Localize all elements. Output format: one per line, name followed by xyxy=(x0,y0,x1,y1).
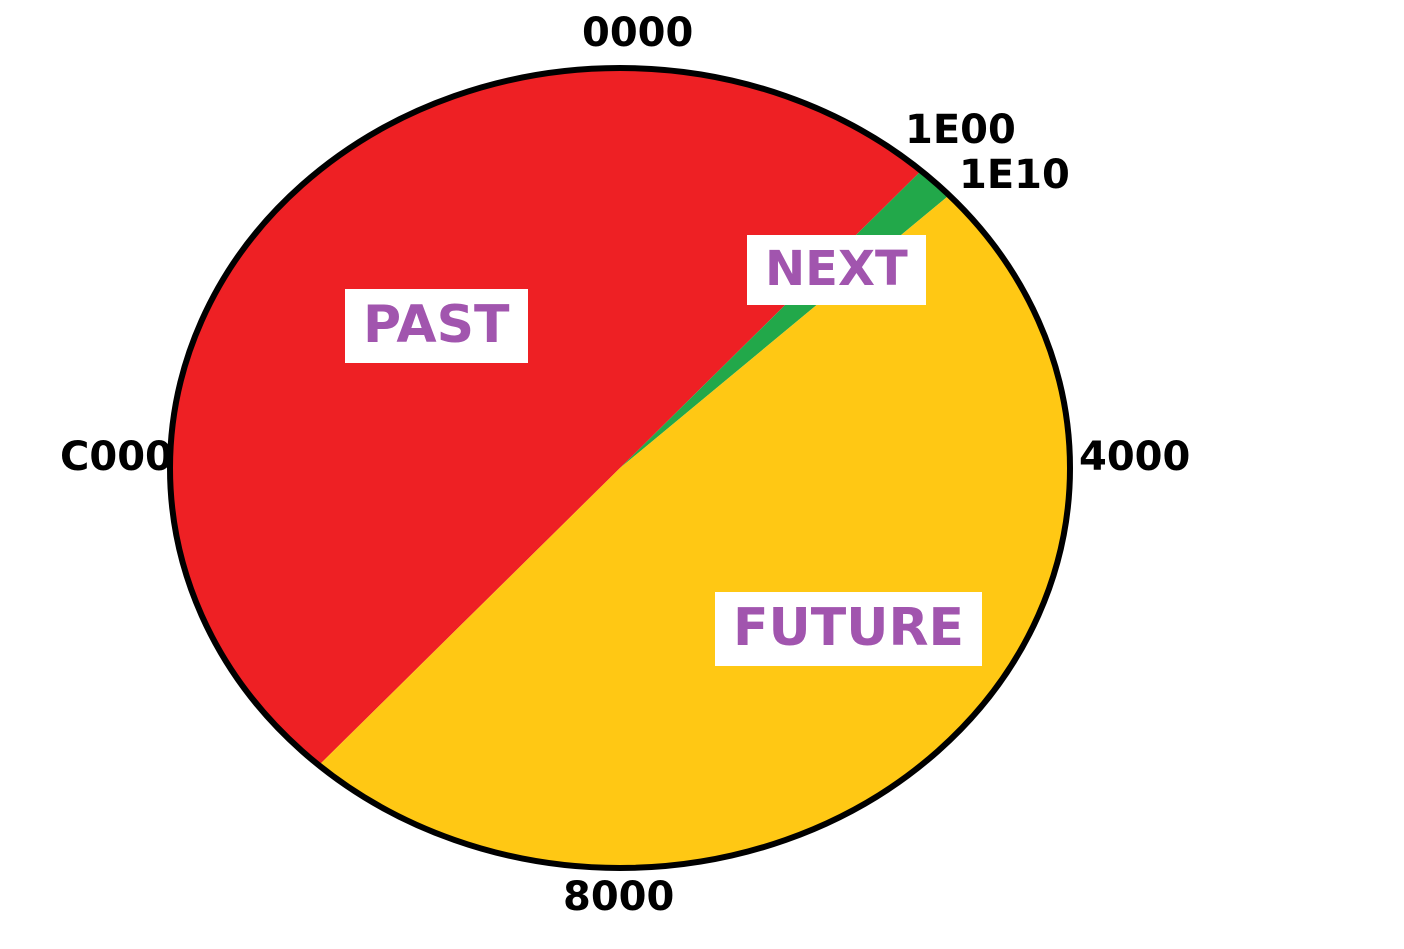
tick-label-C000: C000 xyxy=(60,437,173,477)
region-label-next: NEXT xyxy=(747,235,926,305)
sequence-space-wheel xyxy=(0,0,1404,949)
tick-label-1E00: 1E00 xyxy=(905,110,1016,150)
wheel-wedges xyxy=(170,68,1070,868)
tick-label-0000: 0000 xyxy=(582,13,693,53)
tick-label-4000: 4000 xyxy=(1079,437,1190,477)
tick-label-1E10: 1E10 xyxy=(959,155,1070,195)
region-label-future: FUTURE xyxy=(715,592,982,666)
diagram-canvas: 0000 1E00 1E10 4000 8000 C000 PAST NEXT … xyxy=(0,0,1404,949)
region-label-past: PAST xyxy=(345,289,528,363)
tick-label-8000: 8000 xyxy=(563,877,674,917)
